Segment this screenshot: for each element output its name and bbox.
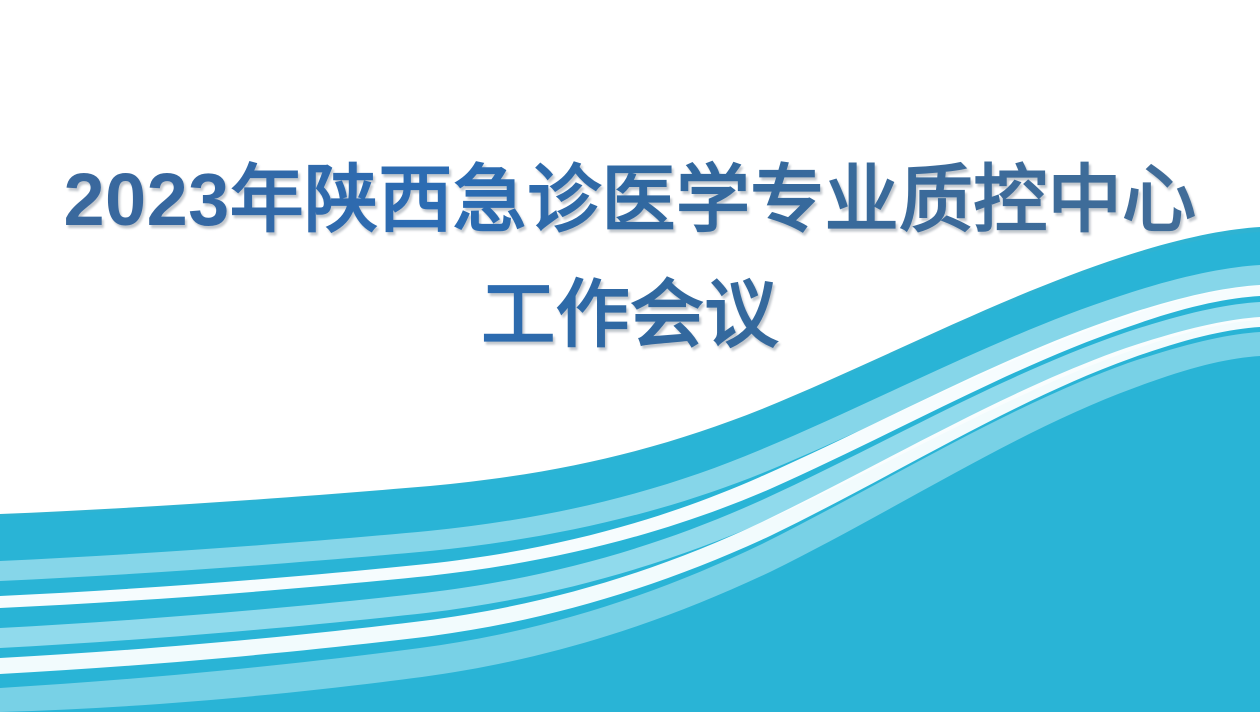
title-slide: 2023年陕西急诊医学专业质控中心 工作会议 xyxy=(0,0,1260,712)
title-line-primary: 2023年陕西急诊医学专业质控中心 xyxy=(0,155,1260,245)
title-line-secondary: 工作会议 xyxy=(0,270,1260,360)
